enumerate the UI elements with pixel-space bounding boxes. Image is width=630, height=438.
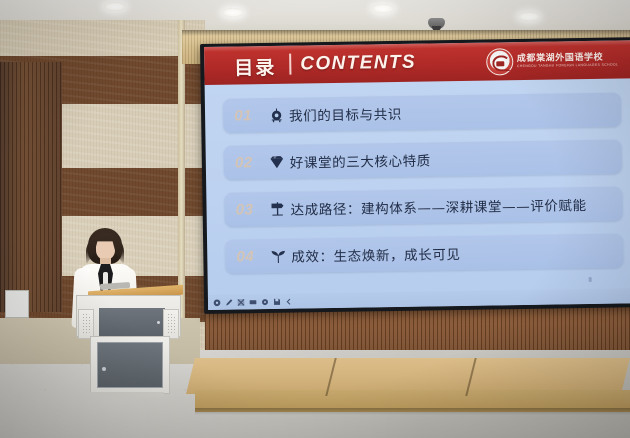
save-icon[interactable] bbox=[273, 297, 281, 305]
stage-platform-top bbox=[186, 358, 630, 394]
podium-speaker-left bbox=[78, 309, 94, 339]
rectangle-icon[interactable] bbox=[249, 298, 257, 306]
slide-title-cn: 目录 bbox=[234, 53, 276, 81]
podium-control-panel[interactable] bbox=[99, 308, 165, 338]
wall-sign bbox=[5, 290, 29, 318]
settings-icon[interactable] bbox=[213, 298, 221, 306]
list-item[interactable]: 04 成效：生态焕新，成长可见 bbox=[225, 233, 623, 273]
school-name-en: CHENGDU TANGHU FOREIGN LANGUAGES SCHOOL bbox=[517, 64, 618, 69]
diamond-icon bbox=[264, 155, 290, 169]
target-icon bbox=[263, 107, 289, 122]
slide-title-en: CONTENTS bbox=[300, 52, 416, 76]
list-item[interactable]: 01 我们的目标与共识 bbox=[223, 92, 621, 132]
projection-screen[interactable]: 目录 CONTENTS 成都棠湖外国语学校 CHENGDU TANGHU FOR… bbox=[204, 40, 630, 310]
ceiling-light bbox=[104, 2, 126, 11]
lecture-hall-photo: 目录 CONTENTS 成都棠湖外国语学校 CHENGDU TANGHU FOR… bbox=[0, 0, 630, 438]
side-door bbox=[0, 62, 62, 312]
list-item[interactable]: 02 好课堂的三大核心特质 bbox=[224, 139, 622, 179]
item-label: 我们的目标与共识 bbox=[289, 103, 402, 125]
item-number: 04 bbox=[225, 248, 265, 266]
podium bbox=[72, 288, 182, 406]
sprout-icon bbox=[265, 248, 291, 263]
podium-speaker-right bbox=[163, 309, 179, 339]
podium-cabinet bbox=[90, 336, 170, 394]
signpost-icon bbox=[264, 201, 290, 217]
podium-body bbox=[76, 295, 181, 337]
item-number: 02 bbox=[224, 154, 264, 172]
podium-cabinet-door[interactable] bbox=[97, 342, 163, 388]
ceiling-light bbox=[222, 8, 244, 17]
item-number: 01 bbox=[223, 107, 263, 125]
item-label: 成效：生态焕新，成长可见 bbox=[291, 243, 460, 266]
eraser-icon[interactable] bbox=[237, 298, 245, 306]
school-name-cn: 成都棠湖外国语学校 bbox=[517, 53, 619, 64]
school-logo: 成都棠湖外国语学校 CHENGDU TANGHU FOREIGN LANGUAG… bbox=[486, 46, 619, 75]
upper-wood-shadow bbox=[182, 30, 630, 36]
collapse-icon[interactable] bbox=[285, 297, 293, 305]
stage-shadow bbox=[195, 408, 630, 415]
contents-list: 01 我们的目标与共识 02 bbox=[223, 92, 624, 286]
slide-header-band: 目录 CONTENTS 成都棠湖外国语学校 CHENGDU TANGHU FOR… bbox=[204, 40, 630, 85]
list-item[interactable]: 03 达成路径：建构体系——深耕课堂——评价赋能 bbox=[224, 186, 622, 226]
item-label: 好课堂的三大核心特质 bbox=[290, 149, 431, 171]
slide-corner-mark bbox=[589, 277, 592, 282]
slide-title-divider bbox=[289, 54, 291, 75]
gear-icon[interactable] bbox=[261, 298, 269, 306]
pen-icon[interactable] bbox=[225, 298, 233, 306]
item-label: 达成路径：建构体系——深耕课堂——评价赋能 bbox=[290, 194, 586, 219]
security-camera-icon bbox=[428, 18, 445, 29]
ceiling-light bbox=[518, 12, 540, 21]
podium-base-plate bbox=[86, 392, 164, 397]
school-crest-icon bbox=[486, 48, 513, 75]
ceiling-light bbox=[372, 4, 394, 13]
item-number: 03 bbox=[224, 201, 264, 219]
